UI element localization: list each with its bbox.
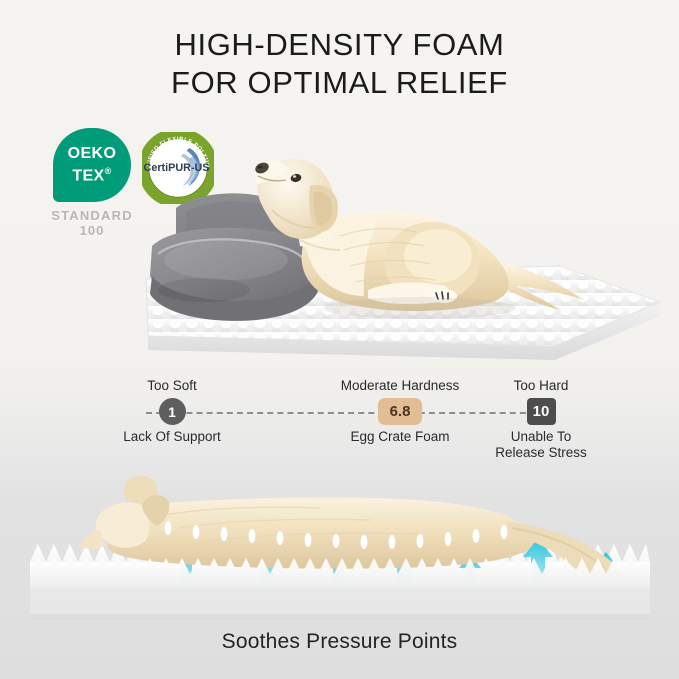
scale-node-moderate: Moderate Hardness 6.8 Egg Crate Foam	[330, 378, 470, 445]
pressure-relief-diagram	[0, 470, 679, 620]
scale-node-3-bottom-line-1: Unable To	[495, 429, 587, 445]
headline-line-2: FOR OPTIMAL RELIEF	[0, 64, 679, 102]
scale-marker-10: 10	[527, 398, 556, 425]
scale-node-1-top-label: Too Soft	[147, 378, 197, 394]
scale-node-3-bottom-line-2: Release Stress	[495, 445, 587, 461]
cross-section-illustration	[0, 470, 679, 620]
headline-line-1: HIGH-DENSITY FOAM	[0, 26, 679, 64]
dog-bed-illustration	[0, 150, 679, 365]
page-title: HIGH-DENSITY FOAM FOR OPTIMAL RELIEF	[0, 26, 679, 102]
scale-node-too-hard: Too Hard 10 Unable To Release Stress	[486, 378, 596, 461]
scale-node-too-soft: Too Soft 1 Lack Of Support	[117, 378, 227, 445]
scale-node-1-bottom-label: Lack Of Support	[123, 429, 221, 445]
infographic-page: HIGH-DENSITY FOAM FOR OPTIMAL RELIEF OEK…	[0, 0, 679, 679]
hardness-scale: Too Soft 1 Lack Of Support Moderate Hard…	[0, 378, 679, 468]
scale-marker-6-8: 6.8	[378, 398, 422, 425]
scale-node-3-bottom-label: Unable To Release Stress	[495, 429, 587, 461]
scale-node-2-bottom-label: Egg Crate Foam	[350, 429, 449, 445]
bottom-caption: Soothes Pressure Points	[0, 630, 679, 654]
scale-marker-1: 1	[159, 398, 186, 425]
scale-node-2-top-label: Moderate Hardness	[341, 378, 460, 394]
scale-node-3-top-label: Too Hard	[514, 378, 569, 394]
product-photo	[0, 150, 679, 365]
